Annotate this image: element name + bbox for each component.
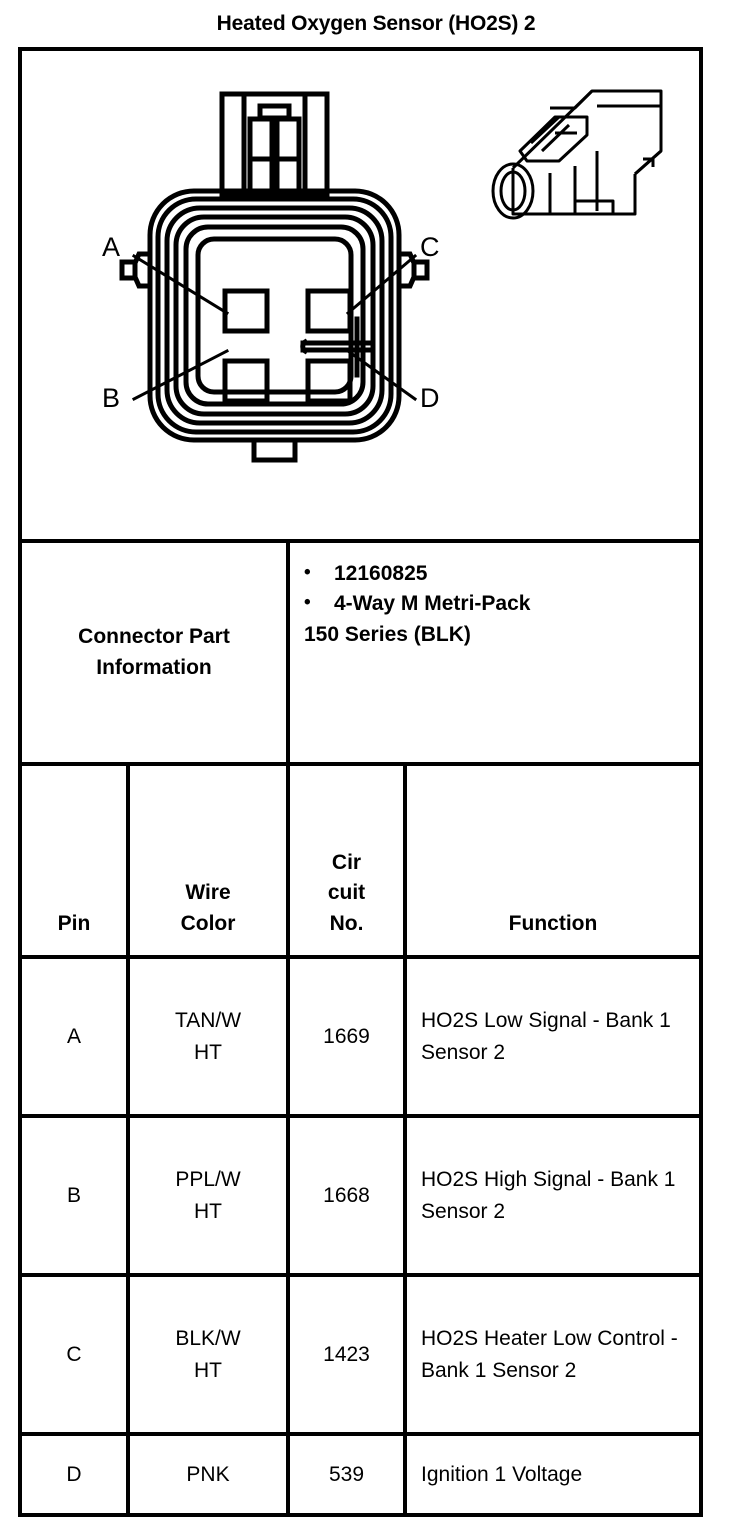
cell-pin: A bbox=[22, 959, 130, 1114]
bullet-icon: • bbox=[304, 559, 334, 587]
pin-callout-c: C bbox=[420, 234, 440, 261]
column-header-function: Function bbox=[407, 766, 699, 955]
pin-callout-a: A bbox=[102, 234, 120, 261]
table-row: B PPL/W HT 1668 HO2S High Signal - Bank … bbox=[22, 1118, 699, 1277]
pin-cavity-a bbox=[225, 291, 267, 331]
connector-diagram-stage: A B C D bbox=[22, 51, 699, 539]
part-info-bullet-item: • 4-Way M Metri-Pack bbox=[304, 589, 685, 619]
column-header-pin: Pin bbox=[22, 766, 130, 955]
part-description-continuation: 150 Series (BLK) bbox=[304, 620, 685, 650]
pin-callout-d: D bbox=[420, 385, 440, 412]
connector-part-info-row: Connector Part Information • 12160825 • … bbox=[22, 543, 699, 766]
cell-wire-color: PPL/W HT bbox=[130, 1118, 290, 1273]
pin-callout-b: B bbox=[102, 385, 120, 412]
cell-pin: C bbox=[22, 1277, 130, 1432]
connector-part-info-label: Connector Part Information bbox=[22, 543, 290, 762]
connector-diagram-cell: A B C D bbox=[22, 51, 699, 543]
pin-cavity-d bbox=[308, 361, 350, 401]
table-row: A TAN/W HT 1669 HO2S Low Signal - Bank 1… bbox=[22, 959, 699, 1118]
cell-circuit-no: 1668 bbox=[290, 1118, 407, 1273]
connector-isometric-view bbox=[447, 73, 667, 223]
cell-circuit-no: 1423 bbox=[290, 1277, 407, 1432]
page-title: Heated Oxygen Sensor (HO2S) 2 bbox=[0, 0, 752, 39]
bullet-icon: • bbox=[304, 589, 334, 617]
connector-part-info-label-line1: Connector Part bbox=[78, 622, 230, 652]
cell-circuit-no: 1669 bbox=[290, 959, 407, 1114]
pin-cavity-b bbox=[225, 361, 267, 401]
cell-function: Ignition 1 Voltage bbox=[407, 1436, 699, 1513]
column-header-wire-color: Wire Color bbox=[130, 766, 290, 955]
cell-wire-color: BLK/W HT bbox=[130, 1277, 290, 1432]
connector-document-frame: A B C D Connector Part Information • 121… bbox=[18, 47, 703, 1517]
connector-part-info-values: • 12160825 • 4-Way M Metri-Pack 150 Seri… bbox=[290, 543, 699, 762]
cell-circuit-no: 539 bbox=[290, 1436, 407, 1513]
connector-part-info-label-line2: Information bbox=[78, 653, 230, 683]
cell-pin: B bbox=[22, 1118, 130, 1273]
column-header-circuit-no: Cir cuit No. bbox=[290, 766, 407, 955]
table-row: D PNK 539 Ignition 1 Voltage bbox=[22, 1436, 699, 1517]
cell-wire-color: TAN/W HT bbox=[130, 959, 290, 1114]
cell-pin: D bbox=[22, 1436, 130, 1513]
part-number-value: 12160825 bbox=[334, 559, 685, 589]
part-info-bullet-item: • 12160825 bbox=[304, 559, 685, 589]
cell-function: HO2S High Signal - Bank 1 Sensor 2 bbox=[407, 1118, 699, 1273]
cell-function: HO2S Heater Low Control - Bank 1 Sensor … bbox=[407, 1277, 699, 1432]
cell-function: HO2S Low Signal - Bank 1 Sensor 2 bbox=[407, 959, 699, 1114]
part-description-value: 4-Way M Metri-Pack bbox=[334, 589, 685, 619]
pin-cavity-c bbox=[308, 291, 350, 331]
cell-wire-color: PNK bbox=[130, 1436, 290, 1513]
table-row: C BLK/W HT 1423 HO2S Heater Low Control … bbox=[22, 1277, 699, 1436]
pinout-table-header: Pin Wire Color Cir cuit No. Function bbox=[22, 766, 699, 959]
